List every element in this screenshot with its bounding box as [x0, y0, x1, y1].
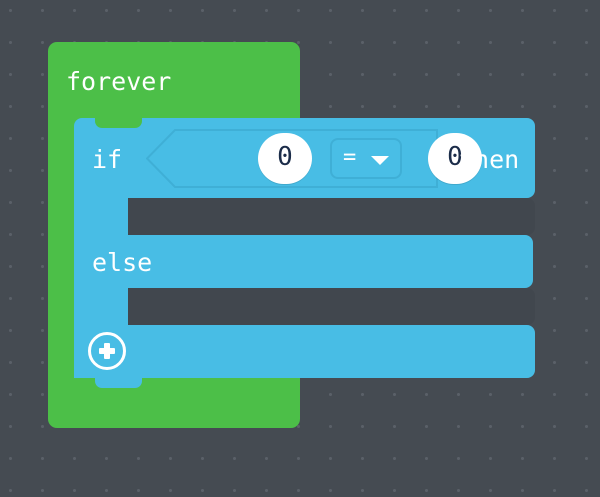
- else-keyword-label: else: [92, 250, 152, 275]
- forever-block-label: forever: [66, 69, 171, 94]
- block-top-notch: [95, 117, 142, 128]
- blocks-workspace[interactable]: forever if 0 =: [0, 0, 600, 497]
- comparison-left-input[interactable]: 0: [258, 133, 312, 184]
- if-block-footer[interactable]: [74, 325, 535, 378]
- then-keyword-label: then: [459, 147, 519, 172]
- if-block-header[interactable]: if 0 = 0 then: [74, 118, 535, 198]
- comparison-left-value: 0: [258, 144, 312, 170]
- if-branch-empty-slot[interactable]: [128, 198, 535, 235]
- if-else-block[interactable]: if 0 = 0 then: [74, 118, 535, 378]
- block-bottom-tab: [95, 377, 142, 388]
- else-bar[interactable]: else: [74, 235, 533, 288]
- chevron-down-icon: [371, 156, 389, 165]
- comparison-operator-dropdown[interactable]: =: [330, 138, 402, 179]
- comparison-operator-value: =: [343, 147, 356, 169]
- else-branch-empty-slot[interactable]: [128, 288, 535, 325]
- plus-icon[interactable]: [88, 332, 126, 370]
- if-keyword-label: if: [92, 147, 122, 172]
